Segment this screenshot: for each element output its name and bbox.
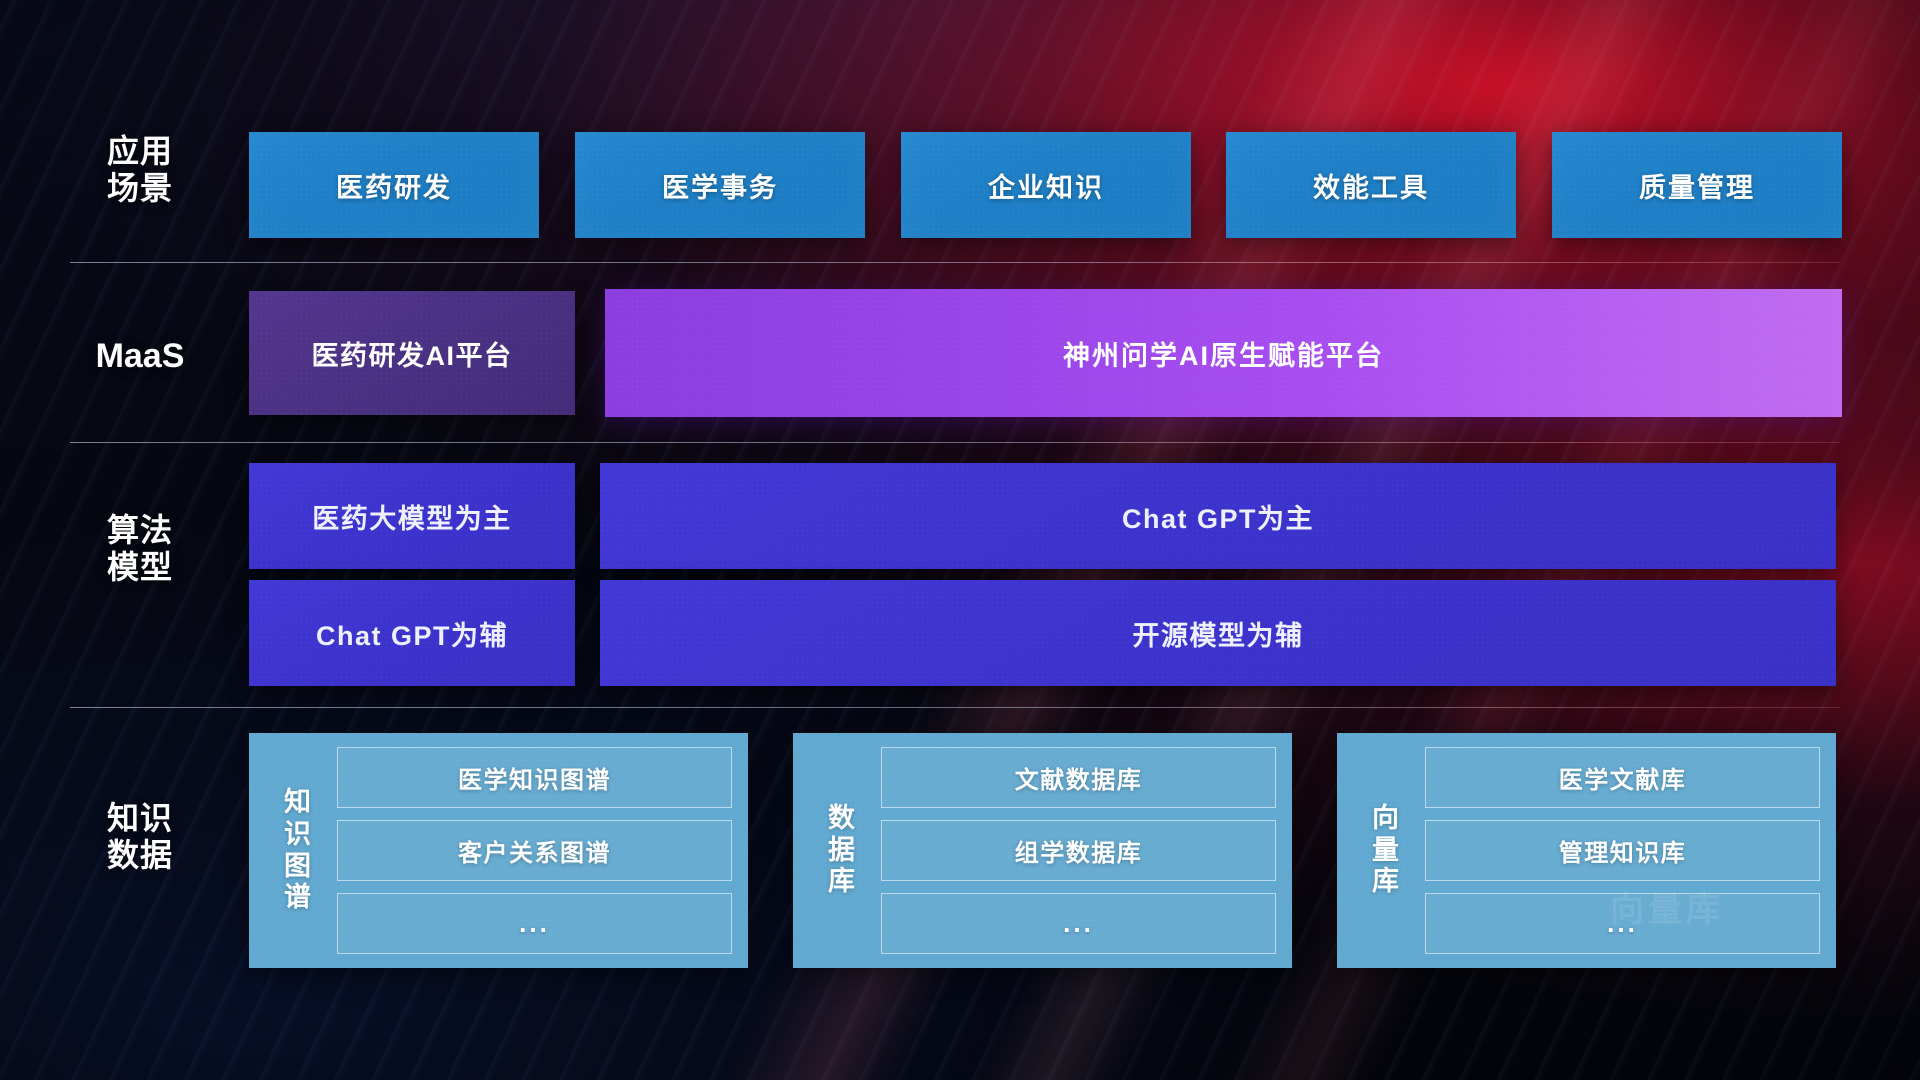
knowledge-group-knowledge-graph[interactable]: 知 识 图 谱 医学知识图谱 客户关系图谱 ... [249, 733, 748, 968]
knowledge-item-more[interactable]: ... [1425, 893, 1820, 954]
algo-tile-opensource-model-secondary[interactable]: 开源模型为辅 [600, 580, 1836, 686]
row-label-line-2: 模型 [80, 549, 200, 586]
algo-tile-label: Chat GPT为主 [1122, 497, 1314, 536]
knowledge-item-label: ... [519, 908, 550, 939]
knowledge-item-medical-knowledge-graph[interactable]: 医学知识图谱 [337, 747, 732, 808]
title-char: 据 [828, 835, 856, 867]
row-label-line-1: 应用 [80, 133, 200, 170]
row-label-knowledge-data: 知识 数据 [80, 800, 200, 874]
maas-tile-label: 神州问学AI原生赋能平台 [1063, 334, 1384, 373]
row-label-line-1: 算法 [80, 512, 200, 549]
knowledge-group-title-database: 数 据 库 [803, 747, 881, 954]
title-char: 库 [1372, 866, 1400, 898]
title-char: 知 [284, 787, 312, 819]
knowledge-item-literature-database[interactable]: 文献数据库 [881, 747, 1276, 808]
knowledge-item-more[interactable]: ... [337, 893, 732, 954]
app-tile-efficiency-tools[interactable]: 效能工具 [1226, 132, 1516, 238]
diagram-content: 应用 场景 医药研发 医学事务 企业知识 效能工具 质量管理 MaaS 医药研发… [0, 0, 1920, 1080]
title-char: 库 [828, 866, 856, 898]
divider-after-maas-row [70, 442, 1840, 443]
knowledge-item-label: 组学数据库 [1015, 833, 1143, 868]
row-label-line-2: 场景 [80, 170, 200, 207]
title-char: 数 [828, 803, 856, 835]
knowledge-item-list: 医学文献库 管理知识库 ... [1425, 747, 1820, 954]
knowledge-item-list: 医学知识图谱 客户关系图谱 ... [337, 747, 732, 954]
title-char: 识 [284, 819, 312, 851]
algo-tile-label: 开源模型为辅 [1133, 614, 1304, 653]
app-tile-label: 质量管理 [1639, 166, 1755, 205]
knowledge-item-omics-database[interactable]: 组学数据库 [881, 820, 1276, 881]
row-label-algorithm-model: 算法 模型 [80, 512, 200, 586]
knowledge-item-list: 文献数据库 组学数据库 ... [881, 747, 1276, 954]
knowledge-item-management-knowledge-store[interactable]: 管理知识库 [1425, 820, 1820, 881]
knowledge-item-label: 文献数据库 [1015, 760, 1143, 795]
app-tile-label: 医药研发 [336, 166, 452, 205]
title-char: 图 [284, 851, 312, 883]
knowledge-item-label: 医学文献库 [1559, 760, 1687, 795]
maas-tile-label: 医药研发AI平台 [312, 334, 513, 373]
knowledge-item-label: 客户关系图谱 [458, 833, 611, 868]
knowledge-item-label: ... [1607, 908, 1638, 939]
app-tile-label: 医学事务 [662, 166, 778, 205]
row-label-line-1: 知识 [80, 800, 200, 837]
knowledge-item-more[interactable]: ... [881, 893, 1276, 954]
app-tile-medical-affairs[interactable]: 医学事务 [575, 132, 865, 238]
app-tile-label: 效能工具 [1313, 166, 1429, 205]
knowledge-item-label: 医学知识图谱 [458, 760, 611, 795]
knowledge-group-database[interactable]: 数 据 库 文献数据库 组学数据库 ... [793, 733, 1292, 968]
app-tile-label: 企业知识 [988, 166, 1104, 205]
knowledge-group-title-knowledge-graph: 知 识 图 谱 [259, 747, 337, 954]
algo-tile-label: 医药大模型为主 [312, 497, 512, 536]
algo-tile-chatgpt-primary[interactable]: Chat GPT为主 [600, 463, 1836, 569]
algo-tile-medicine-large-model-primary[interactable]: 医药大模型为主 [249, 463, 575, 569]
knowledge-item-medical-literature-store[interactable]: 医学文献库 [1425, 747, 1820, 808]
row-label-maas: MaaS [70, 337, 210, 376]
row-label-line-1: MaaS [70, 337, 210, 376]
app-tile-quality-management[interactable]: 质量管理 [1552, 132, 1842, 238]
row-label-line-2: 数据 [80, 837, 200, 874]
title-char: 向 [1372, 803, 1400, 835]
app-tile-enterprise-knowledge[interactable]: 企业知识 [901, 132, 1191, 238]
divider-after-algorithm-row [70, 707, 1840, 708]
diagram-canvas: 应用 场景 医药研发 医学事务 企业知识 效能工具 质量管理 MaaS 医药研发… [0, 0, 1920, 1080]
knowledge-group-vector-store[interactable]: 向 量 库 医学文献库 管理知识库 ... [1337, 733, 1836, 968]
algo-tile-label: Chat GPT为辅 [316, 614, 508, 653]
title-char: 谱 [284, 882, 312, 914]
app-tile-medicine-rnd[interactable]: 医药研发 [249, 132, 539, 238]
knowledge-item-label: ... [1063, 908, 1094, 939]
maas-tile-medicine-rnd-ai-platform[interactable]: 医药研发AI平台 [249, 291, 575, 415]
row-label-application-scenarios: 应用 场景 [80, 133, 200, 207]
algo-tile-chatgpt-secondary[interactable]: Chat GPT为辅 [249, 580, 575, 686]
knowledge-item-customer-relation-graph[interactable]: 客户关系图谱 [337, 820, 732, 881]
title-char: 量 [1372, 835, 1400, 867]
maas-tile-shenzhou-wenxue-platform[interactable]: 神州问学AI原生赋能平台 [605, 289, 1842, 417]
knowledge-item-label: 管理知识库 [1559, 833, 1687, 868]
knowledge-group-title-vector-store: 向 量 库 [1347, 747, 1425, 954]
divider-after-application-row [70, 262, 1840, 263]
